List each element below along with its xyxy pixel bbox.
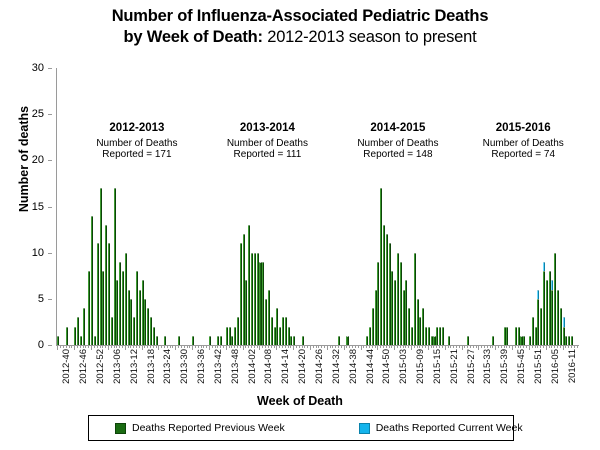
x-tick-mark-minor <box>338 345 339 348</box>
x-tick-mark-minor <box>321 345 322 348</box>
bar-segment-previous-week <box>276 308 278 345</box>
bar <box>147 308 149 345</box>
x-tick-label: 2014-08 <box>263 349 274 384</box>
bar-segment-previous-week <box>439 327 441 345</box>
y-tick-label: 10 <box>32 247 44 259</box>
bar-segment-previous-week <box>282 317 284 345</box>
x-tick-mark-minor <box>554 345 555 348</box>
season-deaths-value: Reported = 74 <box>443 149 600 160</box>
x-tick-mark-minor <box>184 345 185 348</box>
x-tick-mark-minor <box>60 345 61 348</box>
bar <box>262 262 264 345</box>
bar <box>431 336 433 345</box>
bar <box>532 317 534 345</box>
y-tick-label: 15 <box>32 201 44 213</box>
bar <box>156 336 158 345</box>
bar <box>408 308 410 345</box>
bar-segment-previous-week <box>259 262 261 345</box>
bar <box>523 336 525 345</box>
bar <box>257 253 259 345</box>
x-tick-mark-minor <box>161 345 162 348</box>
x-tick-label: 2013-24 <box>162 349 173 384</box>
bar-segment-previous-week <box>535 327 537 345</box>
x-tick-mark-minor <box>299 345 300 348</box>
x-tick-mark-minor <box>80 345 81 348</box>
x-tick-mark-minor <box>97 345 98 348</box>
x-tick-label: 2015-45 <box>516 349 527 384</box>
bar-segment-previous-week <box>563 327 565 345</box>
x-tick-label: 2015-39 <box>499 349 510 384</box>
bar <box>422 308 424 345</box>
x-tick-mark-minor <box>133 345 134 348</box>
x-tick-mark-minor <box>102 345 103 348</box>
x-tick-mark-minor <box>304 345 305 348</box>
bar <box>563 317 565 345</box>
x-tick-mark-minor <box>498 345 499 348</box>
x-tick-mark-minor <box>189 345 190 348</box>
bar <box>554 253 556 345</box>
x-tick-mark-minor <box>369 345 370 348</box>
bar-segment-previous-week <box>274 327 276 345</box>
bar <box>540 308 542 345</box>
season-deaths-caption: Number of Deaths <box>443 138 600 149</box>
bar-segment-previous-week <box>338 336 340 345</box>
x-tick-mark-minor <box>380 345 381 348</box>
legend-label-current-week: Deaths Reported Current Week <box>376 422 523 434</box>
x-tick-mark-minor <box>509 345 510 348</box>
x-tick-mark-minor <box>237 345 238 348</box>
bar <box>122 271 124 345</box>
x-tick-mark-minor <box>111 345 112 348</box>
bar-segment-previous-week <box>520 336 522 345</box>
x-tick-mark-minor <box>492 345 493 348</box>
x-tick-mark-minor <box>128 345 129 348</box>
bar <box>259 262 261 345</box>
bar <box>403 290 405 345</box>
x-tick-mark-minor <box>302 345 303 348</box>
bar <box>417 299 419 345</box>
legend-swatch-cyan-icon <box>359 423 370 434</box>
bar <box>144 299 146 345</box>
x-tick-mark-minor <box>223 345 224 348</box>
x-tick-mark-minor <box>245 345 246 348</box>
bar <box>515 327 517 345</box>
bar <box>546 280 548 345</box>
bar <box>237 317 239 345</box>
bar-segment-previous-week <box>518 327 520 345</box>
bar <box>414 253 416 345</box>
x-tick-mark-minor <box>85 345 86 348</box>
bar <box>130 299 132 345</box>
x-tick-mark-minor <box>332 345 333 348</box>
y-tick-mark <box>48 114 52 115</box>
bar <box>243 234 245 345</box>
bar <box>226 327 228 345</box>
bar-segment-previous-week <box>285 317 287 345</box>
bar-segment-previous-week <box>83 308 85 345</box>
bar-segment-previous-week <box>554 253 556 345</box>
bar-segment-previous-week <box>262 262 264 345</box>
influenza-pediatric-deaths-chart: Number of Influenza-Associated Pediatric… <box>0 0 600 450</box>
x-tick-mark-minor <box>467 345 468 348</box>
x-tick-mark-minor <box>150 345 151 348</box>
bar-segment-previous-week <box>237 317 239 345</box>
bar-segment-previous-week <box>537 299 539 345</box>
x-tick-mark-minor <box>217 345 218 348</box>
bar <box>111 317 113 345</box>
bar-segment-current-week <box>563 317 565 326</box>
chart-title: Number of Influenza-Associated Pediatric… <box>0 6 600 49</box>
bar <box>234 327 236 345</box>
x-tick-label: 2013-18 <box>146 349 157 384</box>
x-tick-mark-minor <box>549 345 550 348</box>
bar <box>290 336 292 345</box>
x-tick-mark-minor <box>568 345 569 348</box>
bar-segment-previous-week <box>97 243 99 345</box>
x-tick-mark-minor <box>352 345 353 348</box>
bar-segment-previous-week <box>417 299 419 345</box>
x-tick-label: 2015-09 <box>415 349 426 384</box>
x-tick-mark-minor <box>229 345 230 348</box>
bar-segment-previous-week <box>128 290 130 345</box>
bar <box>265 299 267 345</box>
bar-segment-previous-week <box>144 299 146 345</box>
x-tick-mark-minor <box>442 345 443 348</box>
bar <box>248 225 250 345</box>
x-tick-mark-minor <box>375 345 376 348</box>
y-tick-mark <box>48 207 52 208</box>
x-tick-mark-minor <box>69 345 70 348</box>
x-tick-mark-minor <box>63 345 64 348</box>
bar-segment-previous-week <box>147 308 149 345</box>
bar-segment-previous-week <box>220 336 222 345</box>
x-tick-label: 2015-15 <box>432 349 443 384</box>
x-tick-mark-minor <box>307 345 308 348</box>
bar-segment-previous-week <box>209 336 211 345</box>
x-tick-mark-minor <box>231 345 232 348</box>
x-tick-mark-minor <box>203 345 204 348</box>
bar <box>116 280 118 345</box>
bar-segment-previous-week <box>366 336 368 345</box>
x-tick-mark-minor <box>122 345 123 348</box>
bar-segment-previous-week <box>231 336 233 345</box>
x-tick-mark-minor <box>170 345 171 348</box>
bar <box>442 327 444 345</box>
x-tick-label: 2013-12 <box>129 349 140 384</box>
bar-segment-previous-week <box>448 336 450 345</box>
bar-segment-previous-week <box>164 336 166 345</box>
bar <box>102 271 104 345</box>
bar-segment-previous-week <box>560 308 562 345</box>
x-axis-labels: 2012-402012-462012-522013-062013-122013-… <box>0 349 600 395</box>
x-tick-label: 2014-14 <box>280 349 291 384</box>
x-tick-mark-minor <box>324 345 325 348</box>
bar <box>467 336 469 345</box>
bar <box>119 262 121 345</box>
y-tick-label: 20 <box>32 154 44 166</box>
bar <box>425 327 427 345</box>
bar <box>288 327 290 345</box>
bar <box>302 336 304 345</box>
x-tick-mark-minor <box>346 345 347 348</box>
bar-segment-previous-week <box>178 336 180 345</box>
x-tick-mark-minor <box>405 345 406 348</box>
x-tick-mark-minor <box>425 345 426 348</box>
x-tick-label: 2015-21 <box>449 349 460 384</box>
bar <box>405 280 407 345</box>
bar <box>492 336 494 345</box>
x-tick-mark-minor <box>66 345 67 348</box>
bar-segment-previous-week <box>571 336 573 345</box>
x-tick-mark-minor <box>386 345 387 348</box>
x-tick-mark-minor <box>520 345 521 348</box>
x-tick-mark-minor <box>265 345 266 348</box>
x-tick-label: 2014-26 <box>314 349 325 384</box>
bar <box>411 327 413 345</box>
bar-segment-previous-week <box>136 271 138 345</box>
x-tick-mark-minor <box>366 345 367 348</box>
x-tick-mark-minor <box>459 345 460 348</box>
bar <box>391 271 393 345</box>
bar-segment-previous-week <box>122 271 124 345</box>
x-tick-mark-minor <box>543 345 544 348</box>
x-tick-mark-minor <box>271 345 272 348</box>
x-tick-mark-minor <box>139 345 140 348</box>
x-tick-mark-minor <box>313 345 314 348</box>
bar-segment-previous-week <box>102 271 104 345</box>
bar <box>274 327 276 345</box>
bar-segment-previous-week <box>226 327 228 345</box>
x-tick-mark-minor <box>105 345 106 348</box>
bar <box>369 327 371 345</box>
x-tick-mark-minor <box>181 345 182 348</box>
x-tick-label: 2013-06 <box>112 349 123 384</box>
bar <box>338 336 340 345</box>
bar-segment-previous-week <box>523 336 525 345</box>
x-tick-mark-minor <box>565 345 566 348</box>
x-tick-mark-minor <box>476 345 477 348</box>
bar-segment-previous-week <box>492 336 494 345</box>
x-tick-label: 2014-38 <box>348 349 359 384</box>
bar-segment-previous-week <box>288 327 290 345</box>
bar-segment-previous-week <box>436 327 438 345</box>
x-tick-mark-minor <box>501 345 502 348</box>
x-tick-mark-minor <box>400 345 401 348</box>
bar <box>285 317 287 345</box>
bar <box>346 336 348 345</box>
y-tick-mark <box>48 345 52 346</box>
x-tick-mark-minor <box>234 345 235 348</box>
x-tick-label: 2016-11 <box>567 349 578 383</box>
bar-segment-previous-week <box>389 243 391 345</box>
bar-segment-previous-week <box>192 336 194 345</box>
bar-segment-previous-week <box>442 327 444 345</box>
x-tick-mark-minor <box>448 345 449 348</box>
bar <box>125 253 127 345</box>
bar-segment-previous-week <box>125 253 127 345</box>
bar <box>293 336 295 345</box>
x-tick-mark-minor <box>156 345 157 348</box>
x-tick-mark-minor <box>389 345 390 348</box>
x-tick-mark-minor <box>526 345 527 348</box>
x-tick-mark-minor <box>470 345 471 348</box>
bar <box>94 336 96 345</box>
bar <box>549 271 551 345</box>
bar-segment-previous-week <box>251 253 253 345</box>
bar-segment-previous-week <box>114 188 116 345</box>
bar-segment-previous-week <box>265 299 267 345</box>
x-tick-label: 2015-03 <box>398 349 409 384</box>
x-tick-mark-minor <box>195 345 196 348</box>
bar-segment-previous-week <box>268 290 270 345</box>
x-tick-mark-minor <box>279 345 280 348</box>
y-tick-mark <box>48 68 52 69</box>
x-tick-mark-minor <box>481 345 482 348</box>
bar-segment-previous-week <box>375 290 377 345</box>
bar-segment-previous-week <box>142 280 144 345</box>
bar <box>560 308 562 345</box>
bar <box>80 336 82 345</box>
bar-segment-current-week <box>551 280 553 289</box>
bar <box>254 253 256 345</box>
x-tick-mark-minor <box>268 345 269 348</box>
x-tick-mark-minor <box>215 345 216 348</box>
bar-segment-previous-week <box>234 327 236 345</box>
chart-title-line1: Number of Influenza-Associated Pediatric… <box>0 6 600 27</box>
bar-segment-previous-week <box>405 280 407 345</box>
bar <box>245 280 247 345</box>
chart-title-line2: by Week of Death: 2012-2013 season to pr… <box>0 27 600 48</box>
x-tick-mark-minor <box>77 345 78 348</box>
x-tick-mark-minor <box>288 345 289 348</box>
bar-segment-previous-week <box>346 336 348 345</box>
x-tick-label: 2014-02 <box>247 349 258 384</box>
x-tick-label: 2014-20 <box>297 349 308 384</box>
x-tick-mark-minor <box>198 345 199 348</box>
x-tick-mark-minor <box>83 345 84 348</box>
x-tick-mark-minor <box>330 345 331 348</box>
season-annotation-2015-2016: 2015-2016 Number of Deaths Reported = 74 <box>443 122 600 160</box>
x-tick-mark-minor <box>316 345 317 348</box>
bar <box>386 234 388 345</box>
bar <box>506 327 508 345</box>
x-tick-mark-minor <box>557 345 558 348</box>
bar <box>251 253 253 345</box>
x-tick-mark-minor <box>574 345 575 348</box>
bar-series-container <box>57 68 579 345</box>
bar-segment-previous-week <box>290 336 292 345</box>
bar-segment-previous-week <box>100 188 102 345</box>
bar <box>557 290 559 345</box>
bar <box>543 262 545 345</box>
x-tick-mark-minor <box>116 345 117 348</box>
x-tick-mark-minor <box>187 345 188 348</box>
bar <box>77 317 79 345</box>
x-tick-mark-minor <box>341 345 342 348</box>
x-tick-mark-minor <box>130 345 131 348</box>
bar <box>433 336 435 345</box>
bar <box>136 271 138 345</box>
y-tick-mark <box>48 299 52 300</box>
bar <box>568 336 570 345</box>
x-tick-mark-minor <box>290 345 291 348</box>
bar <box>565 336 567 345</box>
x-tick-mark-minor <box>464 345 465 348</box>
x-tick-mark-minor <box>372 345 373 348</box>
bar-segment-previous-week <box>133 317 135 345</box>
x-tick-mark-minor <box>172 345 173 348</box>
bar-segment-previous-week <box>565 336 567 345</box>
bar <box>164 336 166 345</box>
x-tick-mark-minor <box>201 345 202 348</box>
y-tick-mark <box>48 253 52 254</box>
bar-segment-previous-week <box>532 317 534 345</box>
bar <box>153 327 155 345</box>
bar <box>571 336 573 345</box>
bar-segment-previous-week <box>467 336 469 345</box>
x-tick-mark-minor <box>518 345 519 348</box>
chart-legend: Deaths Reported Previous Week Deaths Rep… <box>88 415 514 441</box>
x-tick-mark-minor <box>254 345 255 348</box>
bar <box>436 327 438 345</box>
x-tick-mark-minor <box>240 345 241 348</box>
x-tick-mark-minor <box>417 345 418 348</box>
bar <box>419 317 421 345</box>
x-tick-mark-minor <box>257 345 258 348</box>
bar-segment-previous-week <box>400 262 402 345</box>
bar-segment-previous-week <box>546 280 548 345</box>
bar-segment-previous-week <box>557 290 559 345</box>
x-tick-mark-minor <box>419 345 420 348</box>
bar-segment-previous-week <box>515 327 517 345</box>
bar-segment-previous-week <box>386 234 388 345</box>
bar-segment-previous-week <box>139 290 141 345</box>
x-tick-mark-minor <box>397 345 398 348</box>
y-tick-label: 5 <box>38 293 44 305</box>
bar-segment-previous-week <box>271 317 273 345</box>
x-tick-mark-minor <box>285 345 286 348</box>
bar-segment-previous-week <box>91 216 93 345</box>
legend-item-previous-week: Deaths Reported Previous Week <box>115 422 285 434</box>
bar <box>128 290 130 345</box>
bar-segment-previous-week <box>108 243 110 345</box>
bar <box>520 336 522 345</box>
bar-segment-previous-week <box>551 290 553 345</box>
bar-segment-previous-week <box>150 317 152 345</box>
bar <box>377 262 379 345</box>
x-tick-mark-minor <box>274 345 275 348</box>
bar-segment-previous-week <box>245 280 247 345</box>
legend-item-current-week: Deaths Reported Current Week <box>359 422 523 434</box>
x-tick-mark-minor <box>408 345 409 348</box>
bar-segment-previous-week <box>111 317 113 345</box>
bar <box>518 327 520 345</box>
x-tick-mark-minor <box>164 345 165 348</box>
x-tick-mark-minor <box>473 345 474 348</box>
bar-segment-previous-week <box>57 336 59 345</box>
bar-segment-previous-week <box>428 327 430 345</box>
bar <box>282 317 284 345</box>
y-tick-label: 25 <box>32 108 44 120</box>
bar <box>88 271 90 345</box>
x-tick-mark-minor <box>571 345 572 348</box>
bar-segment-previous-week <box>540 308 542 345</box>
bar <box>220 336 222 345</box>
x-tick-mark-minor <box>212 345 213 348</box>
bar <box>192 336 194 345</box>
y-tick-label: 30 <box>32 62 44 74</box>
bar-segment-previous-week <box>397 253 399 345</box>
